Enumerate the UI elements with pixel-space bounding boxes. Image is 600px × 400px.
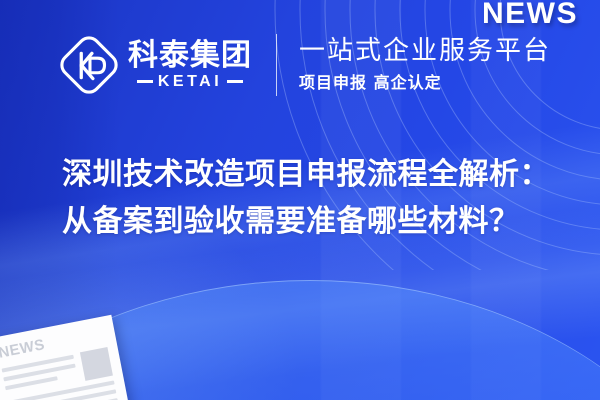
- news-badge: NEWS: [482, 0, 578, 31]
- company-logo[interactable]: 科泰集团 KETAI: [58, 34, 252, 96]
- page-title: 深圳技术改造项目申报流程全解析：从备案到验收需要准备哪些材料？: [62, 152, 574, 245]
- page-title-line-3: ？: [489, 204, 520, 239]
- ketai-diamond-monogram-icon: [58, 34, 120, 96]
- logo-company-name-cn: 科泰集团: [128, 40, 252, 72]
- logo-company-name-en-row: KETAI: [137, 74, 243, 90]
- header-divider: [276, 34, 277, 96]
- banner-header: 科泰集团 KETAI 一站式企业服务平台 项目申报 高企认定 NEWS: [0, 0, 600, 130]
- header-tagline: 一站式企业服务平台 项目申报 高企认定: [299, 35, 551, 96]
- tagline-secondary: 项目申报 高企认定: [299, 71, 551, 95]
- news-banner: 科泰集团 KETAI 一站式企业服务平台 项目申报 高企认定 NEWS 深圳技术…: [0, 0, 600, 400]
- logo-wordmark: 科泰集团 KETAI: [128, 40, 252, 90]
- newspaper-thumbnail: [80, 347, 113, 381]
- page-title-line-1: 深圳技术改造项目申报流程全解析: [62, 157, 520, 192]
- logo-dash-left-icon: [137, 80, 153, 83]
- tagline-primary: 一站式企业服务平台: [299, 35, 551, 68]
- logo-dash-right-icon: [227, 80, 243, 83]
- logo-company-name-en: KETAI: [158, 74, 222, 90]
